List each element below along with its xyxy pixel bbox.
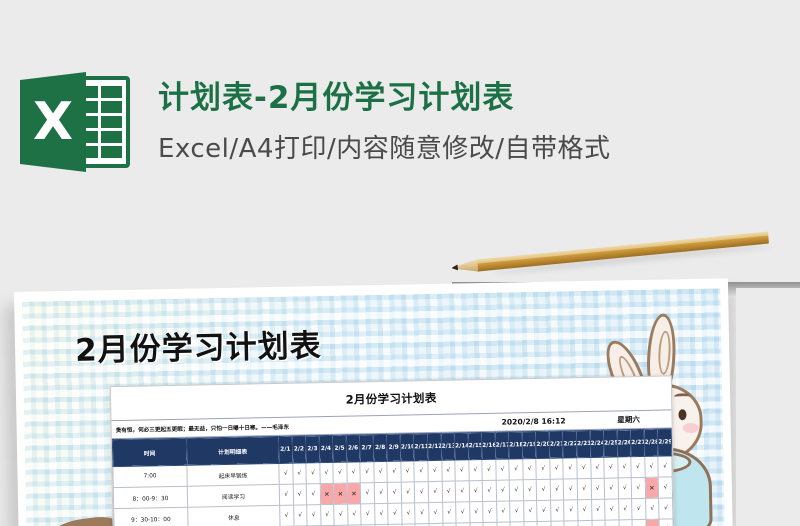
cell-mark-check[interactable]: √ — [632, 498, 646, 519]
cell-mark-check[interactable]: √ — [374, 461, 388, 482]
cell-mark-check[interactable]: √ — [563, 458, 577, 479]
cell-time: 9：30-10：00 — [114, 507, 188, 526]
col-header-day: 2/25 — [603, 430, 617, 457]
sheet-date: 2020/2/8 16:12 — [478, 416, 590, 427]
cell-mark-check[interactable]: √ — [320, 504, 334, 525]
col-header-day: 2/19 — [522, 432, 536, 459]
cell-mark-check[interactable]: √ — [401, 461, 415, 482]
cell-mark-check[interactable]: √ — [631, 456, 645, 477]
cell-mark-check[interactable]: √ — [482, 459, 496, 480]
cell-task: 起床早锻炼 — [187, 463, 279, 486]
col-header-task: 计划明细表 — [186, 436, 279, 465]
template-paper: 2月份学习计划表 — [22, 288, 724, 526]
cell-mark-check[interactable]: √ — [388, 482, 402, 503]
col-header-day: 2/1 — [278, 436, 292, 463]
cell-mark-check[interactable]: √ — [497, 522, 511, 526]
cell-mark-check[interactable]: √ — [455, 460, 469, 481]
cell-mark-check[interactable]: √ — [632, 519, 646, 526]
logo-container: X — [0, 72, 150, 172]
cell-mark-check[interactable]: √ — [307, 505, 321, 526]
cell-mark-check[interactable]: √ — [319, 462, 333, 483]
col-header-day: 2/10 — [400, 434, 414, 461]
cell-mark-check[interactable]: √ — [361, 504, 375, 525]
cell-mark-check[interactable]: √ — [414, 461, 428, 482]
col-header-day: 2/9 — [387, 434, 401, 461]
cell-mark-check[interactable]: √ — [306, 484, 320, 505]
preview-card[interactable]: 2月份学习计划表 — [14, 278, 733, 526]
cell-mark-check[interactable]: √ — [645, 456, 659, 477]
cell-mark-check[interactable]: √ — [293, 505, 307, 526]
col-header-day: 2/4 — [319, 435, 333, 462]
cell-mark-check[interactable]: √ — [387, 461, 401, 482]
cell-mark-check[interactable]: √ — [537, 500, 551, 521]
cell-mark-check[interactable]: √ — [482, 480, 496, 501]
excel-logo-icon: X — [20, 72, 130, 172]
page-root: X 计划表-2月份学习计划表 Excel/A4打印/内容随意修改/自带格式 2月… — [0, 0, 800, 526]
cell-mark-check[interactable]: √ — [306, 463, 320, 484]
col-header-day: 2/5 — [332, 435, 346, 462]
col-header-day: 2/15 — [468, 433, 482, 460]
cell-mark-check[interactable]: √ — [292, 463, 306, 484]
cell-mark-check[interactable]: √ — [496, 501, 510, 522]
cell-time: 7:00 — [113, 465, 187, 487]
cell-mark-check[interactable]: √ — [590, 457, 604, 478]
cell-mark-cross[interactable]: × — [333, 483, 347, 504]
cell-mark-check[interactable]: √ — [470, 523, 484, 526]
cell-mark-check[interactable]: √ — [401, 482, 415, 503]
col-header-day: 2/16 — [481, 432, 495, 459]
cell-mark-check[interactable]: √ — [496, 459, 510, 480]
cell-mark-check[interactable]: √ — [280, 505, 294, 526]
cell-mark-check[interactable]: √ — [564, 479, 578, 500]
cell-mark-check[interactable]: √ — [428, 460, 442, 481]
header-banner: X 计划表-2月份学习计划表 Excel/A4打印/内容随意修改/自带格式 — [0, 52, 800, 192]
cell-mark-check[interactable]: √ — [605, 520, 619, 526]
cell-mark-check[interactable]: √ — [347, 504, 361, 525]
cell-mark-check[interactable]: √ — [374, 503, 388, 524]
cell-mark-check[interactable]: √ — [509, 480, 523, 501]
cell-mark-check[interactable]: √ — [537, 521, 551, 526]
cell-mark-check[interactable]: √ — [592, 520, 606, 526]
cell-task: 休息 — [188, 505, 280, 526]
cell-mark-check[interactable]: √ — [537, 479, 551, 500]
cell-mark-check[interactable]: √ — [468, 460, 482, 481]
cell-mark-check[interactable]: √ — [510, 501, 524, 522]
cell-mark-check[interactable]: √ — [658, 477, 672, 498]
col-header-day: 2/21 — [549, 431, 563, 458]
col-header-day: 2/11 — [414, 434, 428, 461]
col-header-day: 2/2 — [292, 436, 306, 463]
page-title: 计划表-2月份学习计划表 — [158, 79, 800, 118]
cell-mark-check[interactable]: √ — [578, 499, 592, 520]
cell-mark-check[interactable]: √ — [645, 498, 659, 519]
cell-mark-check[interactable]: √ — [361, 483, 375, 504]
col-header-day: 2/23 — [576, 430, 590, 457]
cell-mark-check[interactable]: √ — [510, 522, 524, 526]
cell-mark-check[interactable]: √ — [618, 499, 632, 520]
col-header-day: 2/13 — [441, 433, 455, 460]
cell-task: 阅读学习 — [187, 484, 279, 507]
cell-mark-check[interactable]: √ — [293, 484, 307, 505]
cell-mark-check[interactable]: √ — [536, 458, 550, 479]
cell-mark-check[interactable]: √ — [577, 478, 591, 499]
excel-x-letter: X — [20, 72, 86, 172]
cell-mark-check[interactable]: √ — [279, 484, 293, 505]
col-header-day: 2/26 — [617, 430, 631, 457]
col-header-day: 2/28 — [644, 429, 658, 456]
spreadsheet-sheet[interactable]: 2月份学习计划表 贵有恒，何必三更起五更眠；最无益，只怕一日曝十日寒。——毛泽东… — [110, 375, 675, 526]
cell-mark-check[interactable]: √ — [455, 481, 469, 502]
col-header-time: 时间 — [112, 438, 187, 466]
cell-mark-check[interactable]: √ — [619, 520, 633, 526]
col-header-day: 2/7 — [360, 435, 374, 462]
banner-text-block: 计划表-2月份学习计划表 Excel/A4打印/内容随意修改/自带格式 — [150, 79, 800, 165]
cell-mark-check[interactable]: √ — [429, 502, 443, 523]
cell-mark-check[interactable]: √ — [509, 459, 523, 480]
col-header-day: 2/17 — [495, 432, 509, 459]
cell-mark-check[interactable]: √ — [496, 480, 510, 501]
cell-mark-check[interactable]: √ — [442, 502, 456, 523]
cell-mark-check[interactable]: √ — [442, 481, 456, 502]
cell-mark-check[interactable]: √ — [550, 458, 564, 479]
fish-icon — [49, 514, 122, 526]
cell-mark-check[interactable]: √ — [659, 519, 673, 526]
cell-mark-check[interactable]: √ — [577, 457, 591, 478]
col-header-day: 2/8 — [373, 434, 387, 461]
cell-mark-cross[interactable]: × — [320, 483, 334, 504]
cell-mark-check[interactable]: √ — [524, 521, 538, 526]
background-filler — [736, 288, 800, 526]
cell-mark-cross[interactable]: × — [347, 483, 361, 504]
cell-mark-check[interactable]: √ — [360, 462, 374, 483]
page-subtitle: Excel/A4打印/内容随意修改/自带格式 — [158, 128, 800, 165]
cell-mark-check[interactable]: √ — [441, 460, 455, 481]
cell-mark-check[interactable]: √ — [279, 463, 293, 484]
plan-table[interactable]: 时间 计划明细表 2/12/22/32/42/52/62/72/82/92/10… — [112, 428, 674, 526]
cell-mark-check[interactable]: √ — [483, 501, 497, 522]
col-header-day: 2/22 — [563, 431, 577, 458]
cell-time: 8：00-9：30 — [113, 486, 187, 508]
col-header-day: 2/6 — [346, 435, 360, 462]
cell-mark-check[interactable]: √ — [591, 499, 605, 520]
cell-mark-check[interactable]: √ — [618, 478, 632, 499]
cell-mark-check[interactable]: √ — [523, 480, 537, 501]
cell-mark-check[interactable]: √ — [551, 521, 565, 526]
motto-text: 贵有恒，何必三更起五更眠；最无益，只怕一日曝十日寒。——毛泽东 — [116, 419, 478, 434]
cell-mark-check[interactable]: √ — [374, 482, 388, 503]
cell-mark-check[interactable]: √ — [550, 479, 564, 500]
col-header-day: 2/24 — [590, 430, 604, 457]
col-header-day: 2/3 — [305, 436, 319, 463]
cell-mark-check[interactable]: √ — [469, 481, 483, 502]
cell-mark-check[interactable]: √ — [456, 502, 470, 523]
cell-mark-check[interactable]: √ — [564, 500, 578, 521]
cell-mark-check[interactable]: √ — [333, 462, 347, 483]
cell-mark-check[interactable]: √ — [591, 478, 605, 499]
cell-mark-check[interactable]: √ — [604, 457, 618, 478]
cell-mark-check[interactable]: √ — [415, 503, 429, 524]
cell-mark-check[interactable]: √ — [658, 456, 672, 477]
sheet-weekday: 星期六 — [589, 413, 667, 425]
cell-mark-check[interactable]: √ — [604, 478, 618, 499]
plan-table-body: 7:00起床早锻炼√√√√√√√√√√√√√√√√√√√√√√√√√√√√√8：… — [113, 456, 674, 526]
col-header-day: 2/29 — [658, 429, 672, 456]
col-header-day: 2/14 — [454, 433, 468, 460]
cell-mark-check[interactable]: √ — [564, 521, 578, 526]
cell-mark-cross[interactable]: × — [645, 477, 659, 498]
cell-mark-cross[interactable]: × — [646, 519, 660, 526]
paper-heading: 2月份学习计划表 — [75, 320, 322, 370]
cell-mark-check[interactable]: √ — [659, 498, 673, 519]
col-header-day: 2/27 — [630, 429, 644, 456]
cell-mark-check[interactable]: √ — [347, 462, 361, 483]
cell-mark-check[interactable]: √ — [483, 522, 497, 526]
cell-mark-check[interactable]: √ — [334, 504, 348, 525]
cell-mark-check[interactable]: √ — [631, 477, 645, 498]
cell-mark-check[interactable]: √ — [415, 482, 429, 503]
cell-mark-check[interactable]: √ — [617, 457, 631, 478]
col-header-day: 2/20 — [536, 431, 550, 458]
pencil-icon — [451, 228, 770, 280]
cell-mark-check[interactable]: √ — [551, 500, 565, 521]
cell-mark-check[interactable]: √ — [523, 459, 537, 480]
cell-mark-check[interactable]: √ — [578, 520, 592, 526]
cell-mark-check[interactable]: √ — [523, 500, 537, 521]
cell-mark-check[interactable]: √ — [388, 503, 402, 524]
cell-mark-check[interactable]: √ — [402, 503, 416, 524]
cell-mark-check[interactable]: √ — [605, 499, 619, 520]
cell-mark-check[interactable]: √ — [428, 481, 442, 502]
col-header-day: 2/18 — [509, 432, 523, 459]
cell-mark-check[interactable]: √ — [469, 502, 483, 523]
col-header-day: 2/12 — [427, 433, 441, 460]
